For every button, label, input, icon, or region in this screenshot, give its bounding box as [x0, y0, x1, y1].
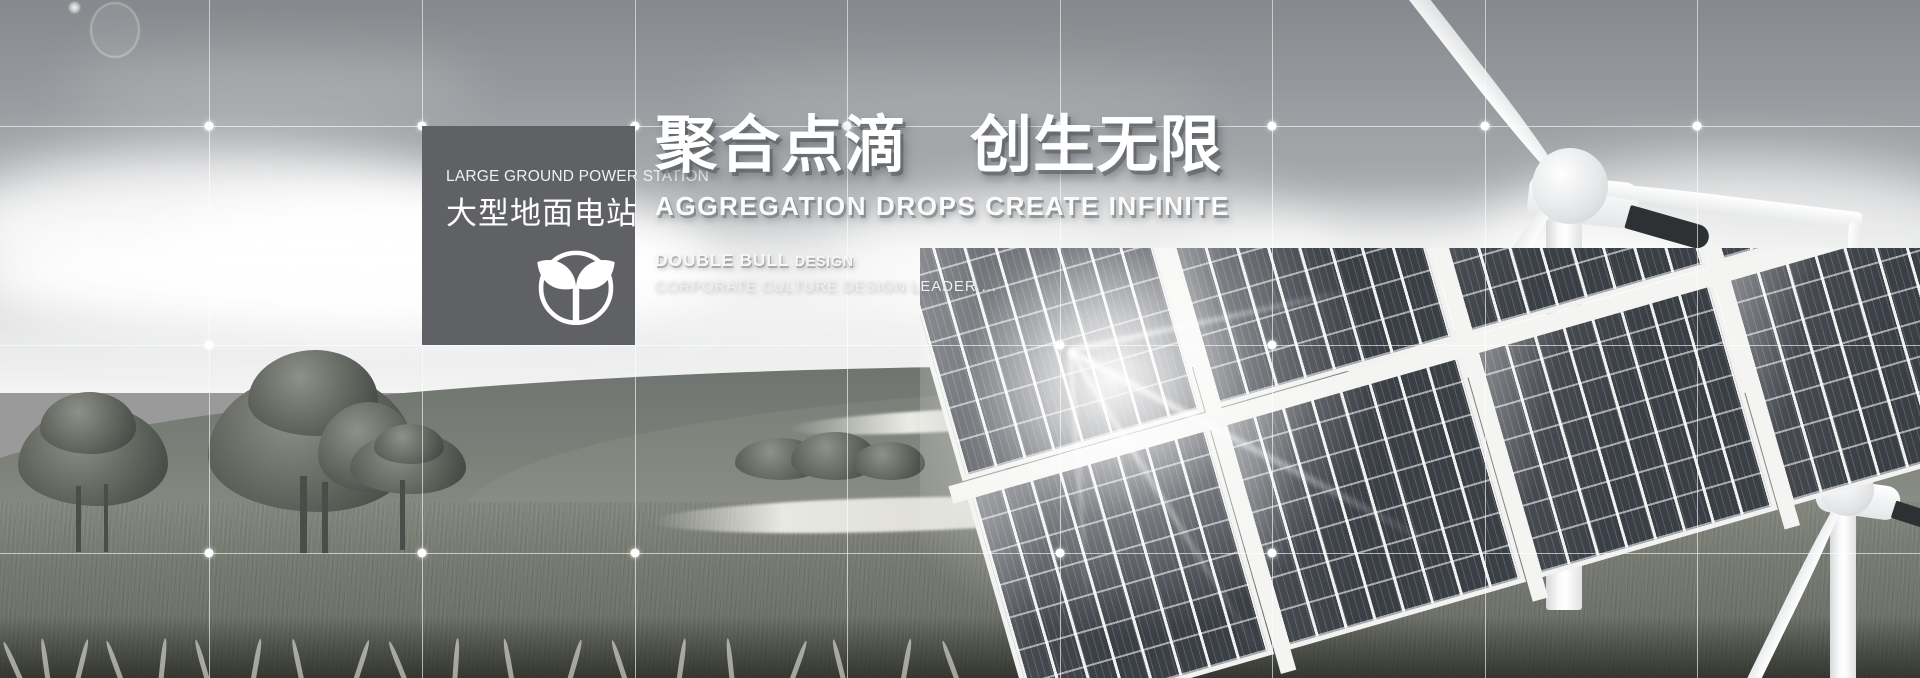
- brand-strong: DOUBLE BULL: [655, 250, 789, 270]
- solar-panel-grid: [920, 248, 1920, 678]
- tree-trunk: [400, 480, 405, 550]
- headline-chinese: 聚合点滴 创生无限: [655, 112, 1375, 178]
- brand-line: DOUBLE BULL DESIGN: [655, 250, 1375, 271]
- brand-light: DESIGN: [795, 254, 854, 270]
- tree-canopy: [374, 424, 444, 464]
- tagline: CORPORATE CULTURE DESIGN LEADER ...: [655, 278, 1375, 295]
- lens-flare-dot: [68, 1, 81, 14]
- tree-trunk: [76, 486, 81, 552]
- subheadline-english: AGGREGATION DROPS CREATE INFINITE: [655, 191, 1375, 222]
- tree-trunk: [300, 476, 307, 554]
- cloud: [60, 55, 480, 115]
- tree-canopy: [40, 392, 136, 454]
- logo-card: LARGE GROUND POWER STATION 大型地面电站: [422, 126, 635, 345]
- tree-right: [350, 432, 468, 554]
- turbine-hub: [1532, 148, 1608, 224]
- tree-trunk: [104, 484, 108, 552]
- hero-banner: LARGE GROUND POWER STATION 大型地面电站 聚合点滴 创…: [0, 0, 1920, 678]
- sprout-in-circle-logo: [530, 240, 622, 332]
- lens-flare-ring: [90, 2, 140, 58]
- headline-block: 聚合点滴 创生无限 AGGREGATION DROPS CREATE INFIN…: [655, 112, 1375, 295]
- card-chinese-label: 大型地面电站: [446, 188, 638, 233]
- tree-trunk: [322, 482, 328, 554]
- tree-distant-cluster: [735, 432, 925, 492]
- tree-canopy: [853, 442, 925, 480]
- solar-panel-array: [920, 248, 1920, 678]
- tree-left: [18, 406, 173, 556]
